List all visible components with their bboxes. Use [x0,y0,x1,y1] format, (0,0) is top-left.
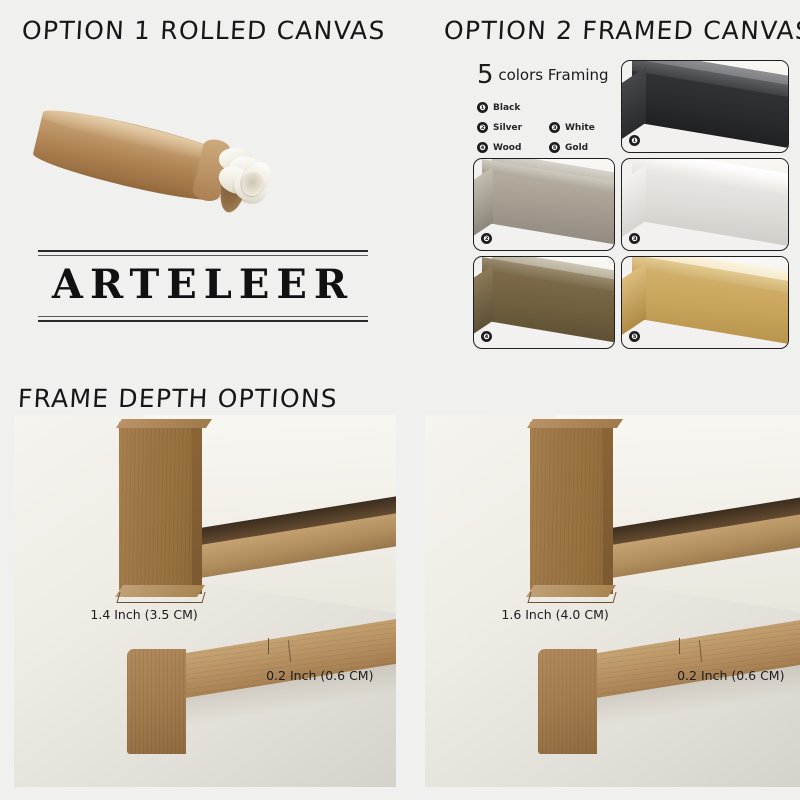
number-badge-5-icon: ❺ [549,142,560,153]
legend-label-black: Black [493,103,520,113]
option1-title: OPTION 1 ROLLED CANVAS [21,16,386,45]
legend-item-black: ❶ Black [477,102,533,113]
legend-count: 5 [477,60,494,90]
frame-corner-render [622,257,788,348]
frame-depth-title: FRAME DEPTH OPTIONS [17,384,338,413]
brand-name: ARTELEER [38,256,368,316]
frame-swatch-gold[interactable]: ❺ [621,256,789,349]
legend-row: ❹ Wood ❺ Gold [477,142,617,153]
legend-title-text: colors Framing [498,66,608,84]
legend-title: 5 colors Framing [477,62,617,88]
frame-swatch-wood[interactable]: ❹ [473,256,615,349]
legend-label-silver: Silver [493,123,522,133]
thickness-measure-tick [268,638,269,654]
depth-dimension-label: 1.4 Inch (3.5 CM) [90,607,197,622]
thickness-dimension-label: 0.2 Inch (0.6 CM) [677,668,784,683]
swatch-badge-1-icon: ❶ [629,135,640,146]
framing-colors-grid: 5 colors Framing ❶ Black ❷ Silver ❸ Whit… [471,58,791,350]
legend-label-white: White [565,123,595,133]
swatch-badge-4-icon: ❹ [481,331,492,342]
legend-row: ❶ Black [477,102,617,113]
number-badge-4-icon: ❹ [477,142,488,153]
rolled-canvas-tube-image [30,62,292,200]
swatch-badge-5-icon: ❺ [629,331,640,342]
frame-corner-render [622,159,788,250]
moulding-bar-end [127,649,186,753]
frame-swatch-black[interactable]: ❶ [621,60,789,153]
legend-item-white: ❸ White [549,122,605,133]
frame-depth-photo-left: 1.4 Inch (3.5 CM) 0.2 Inch (0.6 CM) [14,415,396,787]
frame-post [530,422,610,589]
number-badge-3-icon: ❸ [549,122,560,133]
frame-post-edge [603,422,613,593]
frame-post-top [116,419,212,428]
depth-dimension-label: 1.6 Inch (4.0 CM) [501,607,608,622]
swatch-badge-3-icon: ❸ [629,233,640,244]
depth-measure-bracket [116,592,205,603]
frame-corner-render [474,257,614,348]
frame-corner-render [474,159,614,250]
frame-post-edge [192,422,202,593]
thickness-dimension-label: 0.2 Inch (0.6 CM) [266,668,373,683]
frame-swatch-silver[interactable]: ❷ [473,158,615,251]
swatch-badge-2-icon: ❷ [481,233,492,244]
legend-item-silver: ❷ Silver [477,122,533,133]
option2-title: OPTION 2 FRAMED CANVAS [443,16,800,45]
legend-label-gold: Gold [565,143,588,153]
frame-corner-render [622,61,788,152]
framing-legend: 5 colors Framing ❶ Black ❷ Silver ❸ Whit… [477,62,617,153]
logo-rule-bottom-thick [38,320,368,322]
legend-row: ❷ Silver ❸ White [477,122,617,133]
frame-post-top [527,419,623,428]
legend-label-wood: Wood [493,143,521,153]
thickness-measure-tick [679,638,680,654]
frame-post [119,422,199,589]
number-badge-1-icon: ❶ [477,102,488,113]
frame-depth-photo-right: 1.6 Inch (4.0 CM) 0.2 Inch (0.6 CM) [425,415,800,787]
legend-item-wood: ❹ Wood [477,142,533,153]
depth-measure-bracket [527,592,616,603]
frame-swatch-white[interactable]: ❸ [621,158,789,251]
legend-item-gold: ❺ Gold [549,142,605,153]
brand-logo: ARTELEER [38,250,368,322]
moulding-bar-end [538,649,597,753]
number-badge-2-icon: ❷ [477,122,488,133]
